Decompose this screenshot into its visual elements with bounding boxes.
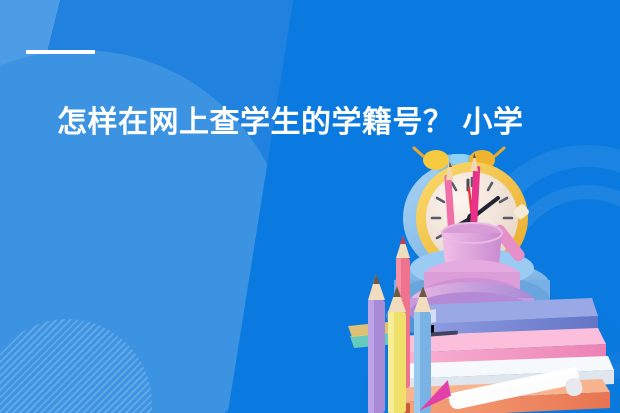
pencil-purple xyxy=(368,274,385,413)
pencil-yellow xyxy=(388,286,406,413)
study-desk-illustration xyxy=(330,140,620,413)
accent-rule xyxy=(26,50,95,54)
banner-card: 怎样在网上查学生的学籍号？ 小学 xyxy=(0,0,620,413)
banner-title: 怎样在网上查学生的学籍号？ 小学 xyxy=(57,106,577,140)
pencil-blue xyxy=(414,286,431,413)
